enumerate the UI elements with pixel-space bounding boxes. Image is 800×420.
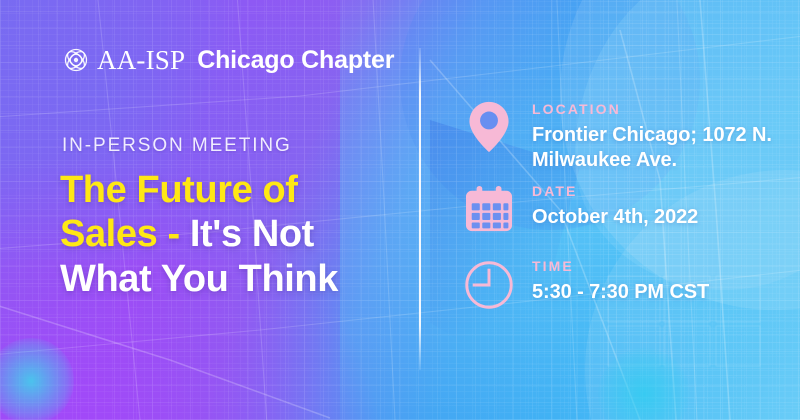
detail-label-date: DATE xyxy=(532,184,698,198)
map-pin-icon xyxy=(464,100,514,154)
headline-line-2-highlight: Sales - xyxy=(60,213,180,255)
brand-lockup: AA-ISP Chicago Chapter xyxy=(60,44,394,76)
aaisp-circular-logo-icon xyxy=(60,44,92,76)
detail-value-location: Frontier Chicago; 1072 N. Milwaukee Ave. xyxy=(532,123,800,173)
detail-row-date: DATE October 4th, 2022 xyxy=(464,182,698,233)
left-content-column: AA-ISP Chicago Chapter IN-PERSON MEETING… xyxy=(0,0,419,420)
event-headline: The Future of Sales - It's Not What You … xyxy=(60,168,420,301)
headline-line-1: The Future of xyxy=(60,169,298,211)
detail-value-date: October 4th, 2022 xyxy=(532,205,698,230)
detail-text-location: LOCATION Frontier Chicago; 1072 N. Milwa… xyxy=(532,100,800,173)
calendar-icon xyxy=(464,185,514,233)
detail-row-location: LOCATION Frontier Chicago; 1072 N. Milwa… xyxy=(464,100,800,173)
detail-text-date: DATE October 4th, 2022 xyxy=(532,182,698,230)
headline-line-2-rest: It's Not xyxy=(190,213,314,255)
detail-value-time: 5:30 - 7:30 PM CST xyxy=(532,280,709,305)
event-banner: AA-ISP Chicago Chapter IN-PERSON MEETING… xyxy=(0,0,800,420)
event-kicker: IN-PERSON MEETING xyxy=(62,135,292,157)
detail-label-location: LOCATION xyxy=(532,102,800,116)
detail-text-time: TIME 5:30 - 7:30 PM CST xyxy=(532,257,709,305)
detail-label-time: TIME xyxy=(532,259,709,273)
brand-name: AA-ISP xyxy=(97,47,185,74)
detail-row-time: TIME 5:30 - 7:30 PM CST xyxy=(464,257,709,311)
right-details-column: LOCATION Frontier Chicago; 1072 N. Milwa… xyxy=(419,0,800,420)
clock-icon xyxy=(464,259,514,311)
brand-chapter: Chicago Chapter xyxy=(197,48,394,73)
headline-line-3: What You Think xyxy=(60,258,338,300)
